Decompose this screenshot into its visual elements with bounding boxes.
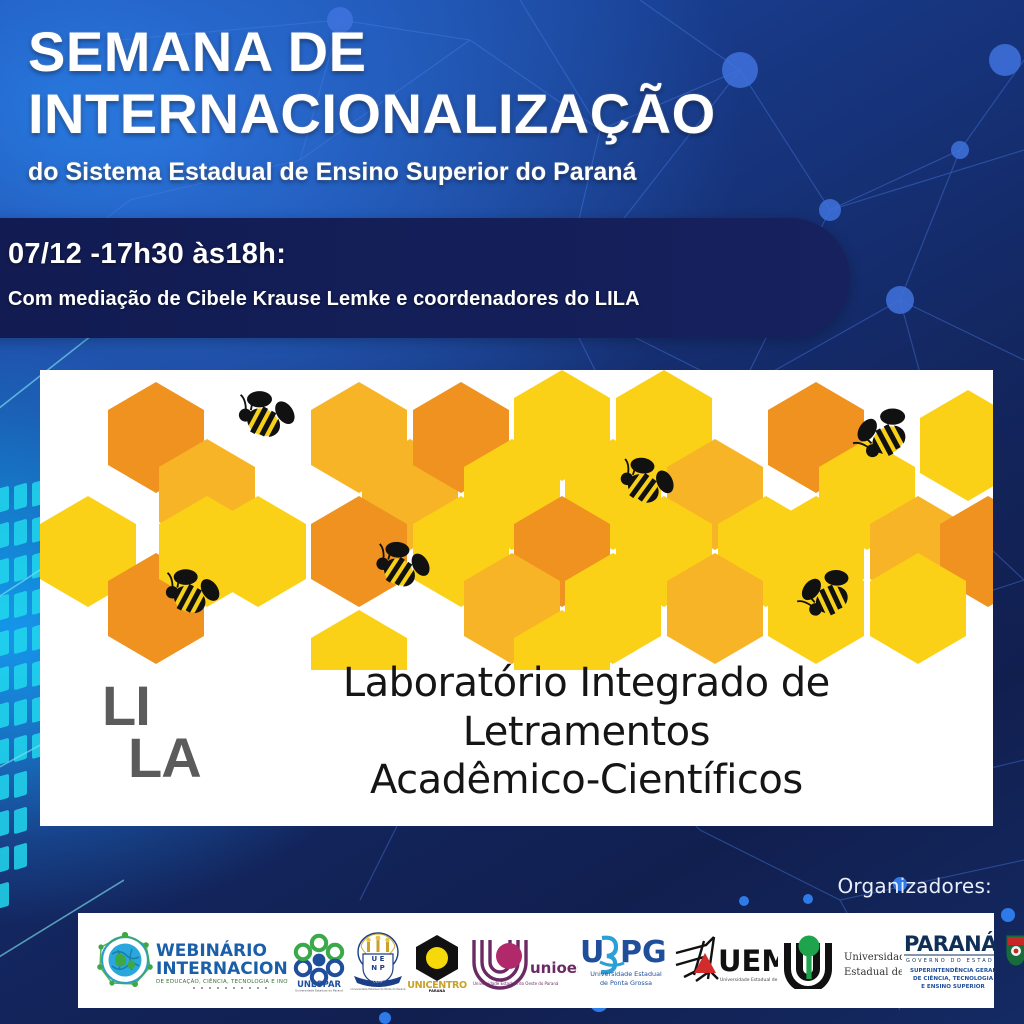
honeycomb-illustration — [40, 370, 993, 670]
organizers-logo-bar: WEBINÁRIO INTERNACIONAL DE EDUCAÇÃO, CIÊ… — [78, 913, 994, 1008]
svg-text:U E: U E — [372, 955, 385, 963]
logo-webinario-internacional: WEBINÁRIO INTERNACIONAL DE EDUCAÇÃO, CIÊ… — [92, 925, 288, 997]
logo-unioeste: unioeste Universidade Estadual do Oeste … — [468, 925, 578, 997]
svg-text:SUPERINTENDÊNCIA GERAL: SUPERINTENDÊNCIA GERAL — [910, 966, 997, 974]
page-title: SEMANA DE INTERNACIONALIZAÇÃO do Sistema… — [28, 24, 928, 187]
schedule-banner: 07/12 -17h30 às18h: Com mediação de Cibe… — [0, 218, 850, 338]
lila-full-name: Laboratório Integrado de Letramentos Aca… — [231, 659, 942, 805]
lila-monogram: LI LA — [102, 680, 201, 783]
logo-unicentro: UNICENTRO PARANÁ — [406, 925, 468, 997]
title-subtitle: do Sistema Estadual de Ensino Superior d… — [28, 158, 928, 187]
title-line-2: INTERNACIONALIZAÇÃO — [28, 86, 928, 142]
svg-text:Estadual de Londrina: Estadual de Londrina — [844, 967, 902, 978]
title-line-1: SEMANA DE — [28, 24, 928, 80]
svg-text:WEBINÁRIO: WEBINÁRIO — [156, 939, 267, 961]
svg-text:U: U — [580, 935, 604, 970]
svg-text:PARANÁ: PARANÁ — [429, 988, 446, 992]
svg-text:Universidade Estadual de Marin: Universidade Estadual de Maringá — [720, 976, 778, 983]
logo-uenp: U E N P UENP Universidade Estadual do No… — [350, 925, 406, 997]
logo-uem: UEM Universidade Estadual de Maringá — [674, 925, 778, 997]
lila-monogram-la: LA — [128, 732, 201, 784]
svg-text:INTERNACIONAL: INTERNACIONAL — [156, 959, 288, 979]
parana-coat-of-arms-icon — [1006, 931, 1024, 966]
lila-name-line-1: Laboratório Integrado de Letramentos — [231, 659, 942, 757]
logo-uepg: U PG Universidade Estadual de Ponta Gros… — [578, 925, 674, 997]
logo-uel: Universidade Estadual de Londrina — [778, 925, 902, 997]
lila-card: LI LA Laboratório Integrado de Letrament… — [40, 370, 993, 826]
svg-text:Universidade Estadual: Universidade Estadual — [590, 970, 662, 978]
svg-text:de Ponta Grossa: de Ponta Grossa — [600, 979, 652, 987]
svg-text:UNESPAR: UNESPAR — [297, 979, 341, 989]
event-datetime: 07/12 -17h30 às18h: — [8, 238, 286, 271]
svg-text:GOVERNO DO ESTADO: GOVERNO DO ESTADO — [906, 958, 1000, 964]
svg-text:Universidade: Universidade — [844, 952, 902, 963]
svg-text:PG: PG — [620, 935, 667, 970]
svg-text:unioeste: unioeste — [530, 959, 578, 977]
globe-icon — [97, 931, 153, 986]
logo-unespar: UNESPAR Universidade Estadual do Paraná — [288, 925, 350, 997]
poster: SEMANA DE INTERNACIONALIZAÇÃO do Sistema… — [0, 0, 1024, 1024]
svg-text:UENP: UENP — [373, 979, 384, 983]
svg-text:Universidade Estadual do Paran: Universidade Estadual do Paraná — [295, 988, 343, 992]
svg-text:E ENSINO SUPERIOR: E ENSINO SUPERIOR — [921, 984, 985, 990]
lila-name-line-2: Acadêmico-Científicos — [231, 756, 942, 805]
svg-text:DE EDUCAÇÃO, CIÊNCIA, TECNOLOG: DE EDUCAÇÃO, CIÊNCIA, TECNOLOGIA E INOVA… — [156, 977, 288, 985]
event-mediation: Com mediação de Cibele Krause Lemke e co… — [8, 288, 640, 311]
organizers-label: Organizadores: — [837, 874, 992, 898]
svg-text:UEM: UEM — [718, 944, 778, 978]
svg-text:Universidade Estadual do Oeste: Universidade Estadual do Oeste do Paraná — [473, 981, 559, 986]
svg-text:PARANÁ: PARANÁ — [904, 931, 998, 956]
lila-logo: LI LA Laboratório Integrado de Letrament… — [102, 662, 942, 802]
lila-monogram-li: LI — [102, 680, 201, 732]
svg-text:N P: N P — [371, 964, 384, 972]
logo-parana-governo: PARANÁ GOVERNO DO ESTADO SUPERINTENDÊNCI… — [902, 925, 1024, 997]
svg-text:DE CIÊNCIA, TECNOLOGIA: DE CIÊNCIA, TECNOLOGIA — [913, 974, 994, 982]
svg-text:Universidade Estadual do Norte: Universidade Estadual do Norte do Paraná — [351, 987, 406, 991]
